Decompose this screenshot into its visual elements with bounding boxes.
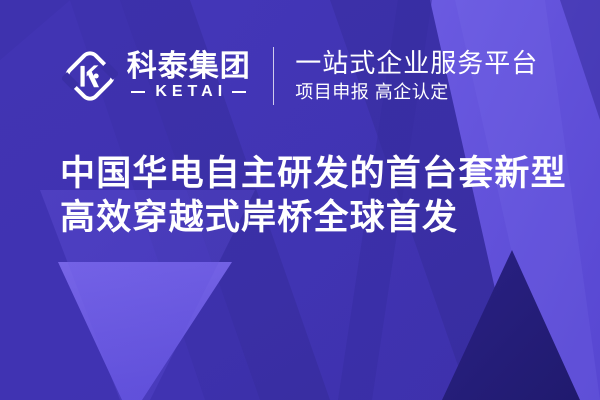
headline-line-1: 中国华电自主研发的首台套新型 bbox=[60, 152, 560, 196]
headline-line-2: 高效穿越式岸桥全球首发 bbox=[60, 196, 560, 240]
vertical-divider-icon bbox=[273, 47, 275, 105]
tagline-main: 一站式企业服务平台 bbox=[295, 50, 538, 77]
logo-english-name: KETAI bbox=[150, 84, 227, 100]
logo-english-row: KETAI bbox=[131, 84, 246, 100]
logo-wordmark: 科泰集团 KETAI bbox=[127, 52, 251, 100]
banner-header: 科泰集团 KETAI 一站式企业服务平台 项目申报 高企认定 bbox=[0, 36, 600, 116]
brand-logo[interactable]: 科泰集团 KETAI bbox=[62, 48, 251, 104]
promo-banner: 科泰集团 KETAI 一站式企业服务平台 项目申报 高企认定 中国华电自主研发的… bbox=[0, 0, 600, 400]
dash-icon bbox=[131, 91, 145, 94]
page-title: 中国华电自主研发的首台套新型 高效穿越式岸桥全球首发 bbox=[60, 152, 560, 240]
dash-icon bbox=[232, 91, 246, 94]
tagline-block: 一站式企业服务平台 项目申报 高企认定 bbox=[295, 50, 538, 101]
logo-chinese-name: 科泰集团 bbox=[127, 52, 251, 82]
ketai-diamond-k-icon bbox=[62, 48, 118, 104]
tagline-sub: 项目申报 高企认定 bbox=[295, 83, 538, 102]
